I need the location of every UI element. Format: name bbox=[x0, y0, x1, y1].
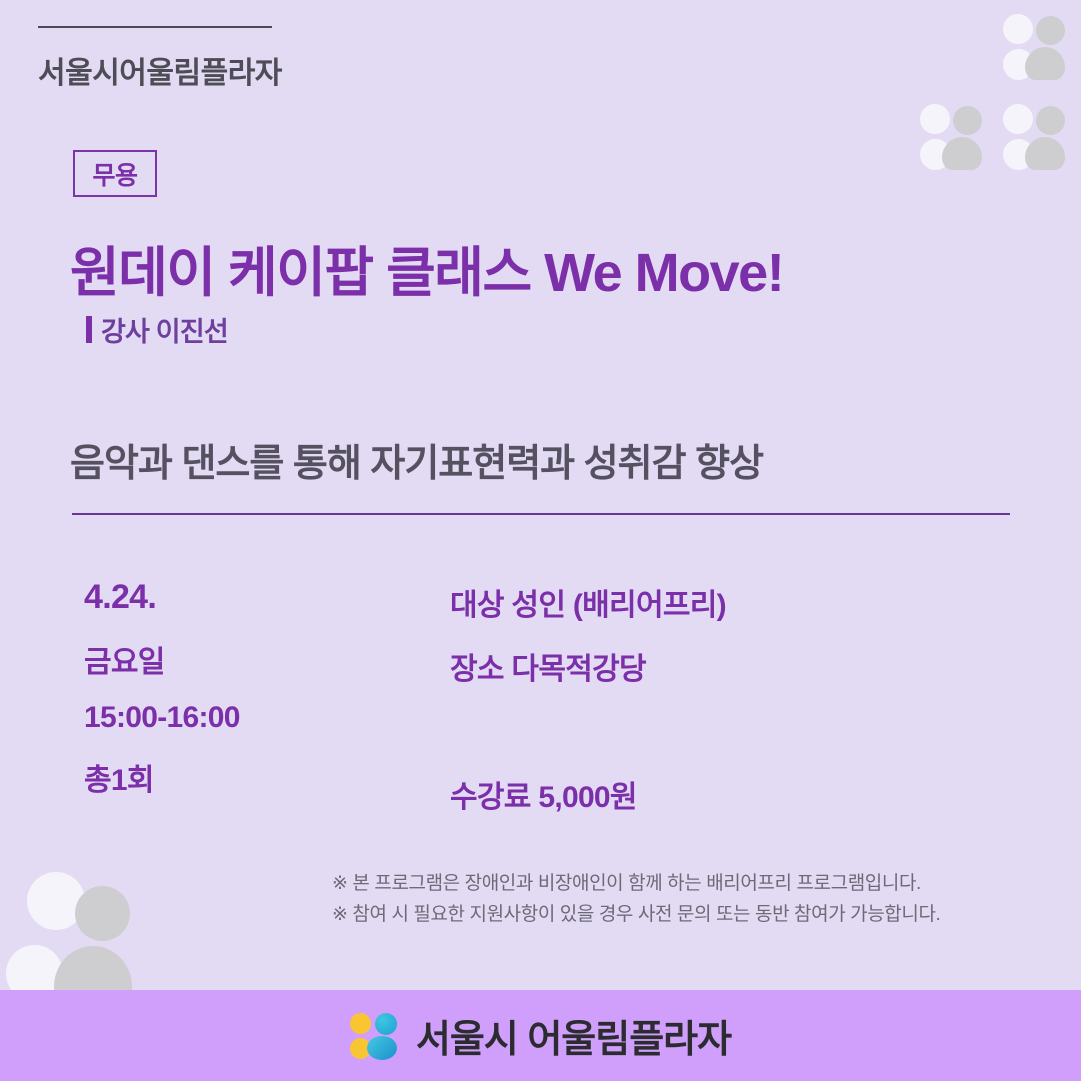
logo-circle-yellow-top bbox=[350, 1013, 371, 1034]
instructor-name: 강사 이진선 bbox=[101, 310, 228, 349]
people-motif-decor-1 bbox=[1003, 14, 1065, 80]
info-column: 대상 성인 (배리어프리) 장소 다목적강당 수강료 5,000원 bbox=[450, 580, 1010, 836]
program-title: 원데이 케이팝 클래스 We Move! bbox=[70, 228, 783, 307]
info-location: 장소 다목적강당 bbox=[450, 644, 1010, 688]
motif-body-right bbox=[942, 137, 982, 170]
motif-circle-top-left bbox=[1003, 104, 1033, 134]
schedule-date: 4.24. bbox=[84, 578, 434, 617]
poster-canvas: 서울시어울림플라자 무용 원데이 케이팝 클래스 We Move! 강사 이진선… bbox=[0, 0, 1081, 1081]
motif-circle-top-right bbox=[75, 886, 130, 941]
category-badge: 무용 bbox=[73, 150, 157, 197]
note-line-1: ※ 본 프로그램은 장애인과 비장애인이 함께 하는 배리어프리 프로그램입니다… bbox=[332, 869, 940, 900]
program-subtitle: 음악과 댄스를 통해 자기표현력과 성취감 향상 bbox=[70, 432, 763, 487]
motif-circle-top-left bbox=[920, 104, 950, 134]
schedule-sessions: 총1회 bbox=[84, 755, 434, 799]
instructor-bar-icon bbox=[86, 316, 92, 343]
page-title: 서울시어울림플라자 bbox=[38, 48, 282, 92]
note-line-2: ※ 참여 시 필요한 지원사항이 있을 경우 사전 문의 또는 동반 참여가 가… bbox=[332, 900, 940, 931]
people-logo-icon bbox=[350, 1012, 398, 1060]
info-audience: 대상 성인 (배리어프리) bbox=[450, 580, 1010, 624]
logo-circle-blue-top bbox=[375, 1013, 397, 1035]
motif-body-right bbox=[1025, 47, 1065, 80]
section-divider bbox=[72, 513, 1010, 515]
motif-circle-top-left bbox=[1003, 14, 1033, 44]
motif-body-right bbox=[1025, 137, 1065, 170]
info-fee: 수강료 5,000원 bbox=[450, 772, 1010, 816]
motif-circle-top-right bbox=[1036, 16, 1065, 45]
people-motif-decor-3 bbox=[1003, 104, 1065, 170]
schedule-time: 15:00-16:00 bbox=[84, 701, 434, 735]
instructor-row: 강사 이진선 bbox=[86, 310, 228, 349]
header-rule bbox=[38, 26, 272, 28]
motif-circle-top-left bbox=[27, 872, 85, 930]
motif-circle-top-right bbox=[1036, 106, 1065, 135]
footer-brand-name: 서울시 어울림플라자 bbox=[416, 1008, 731, 1063]
schedule-weekday: 금요일 bbox=[84, 637, 434, 681]
motif-body-left bbox=[1003, 49, 1034, 80]
people-motif-decor-2 bbox=[920, 104, 982, 170]
logo-body-blue-bottom bbox=[367, 1036, 397, 1060]
motif-circle-top-right bbox=[953, 106, 982, 135]
motif-body-left bbox=[920, 139, 951, 170]
schedule-column: 4.24. 금요일 15:00-16:00 총1회 bbox=[84, 578, 434, 819]
info-spacer bbox=[450, 708, 1010, 772]
footer-bar: 서울시 어울림플라자 bbox=[0, 990, 1081, 1081]
motif-body-left bbox=[1003, 139, 1034, 170]
notes-block: ※ 본 프로그램은 장애인과 비장애인이 함께 하는 배리어프리 프로그램입니다… bbox=[332, 869, 940, 931]
